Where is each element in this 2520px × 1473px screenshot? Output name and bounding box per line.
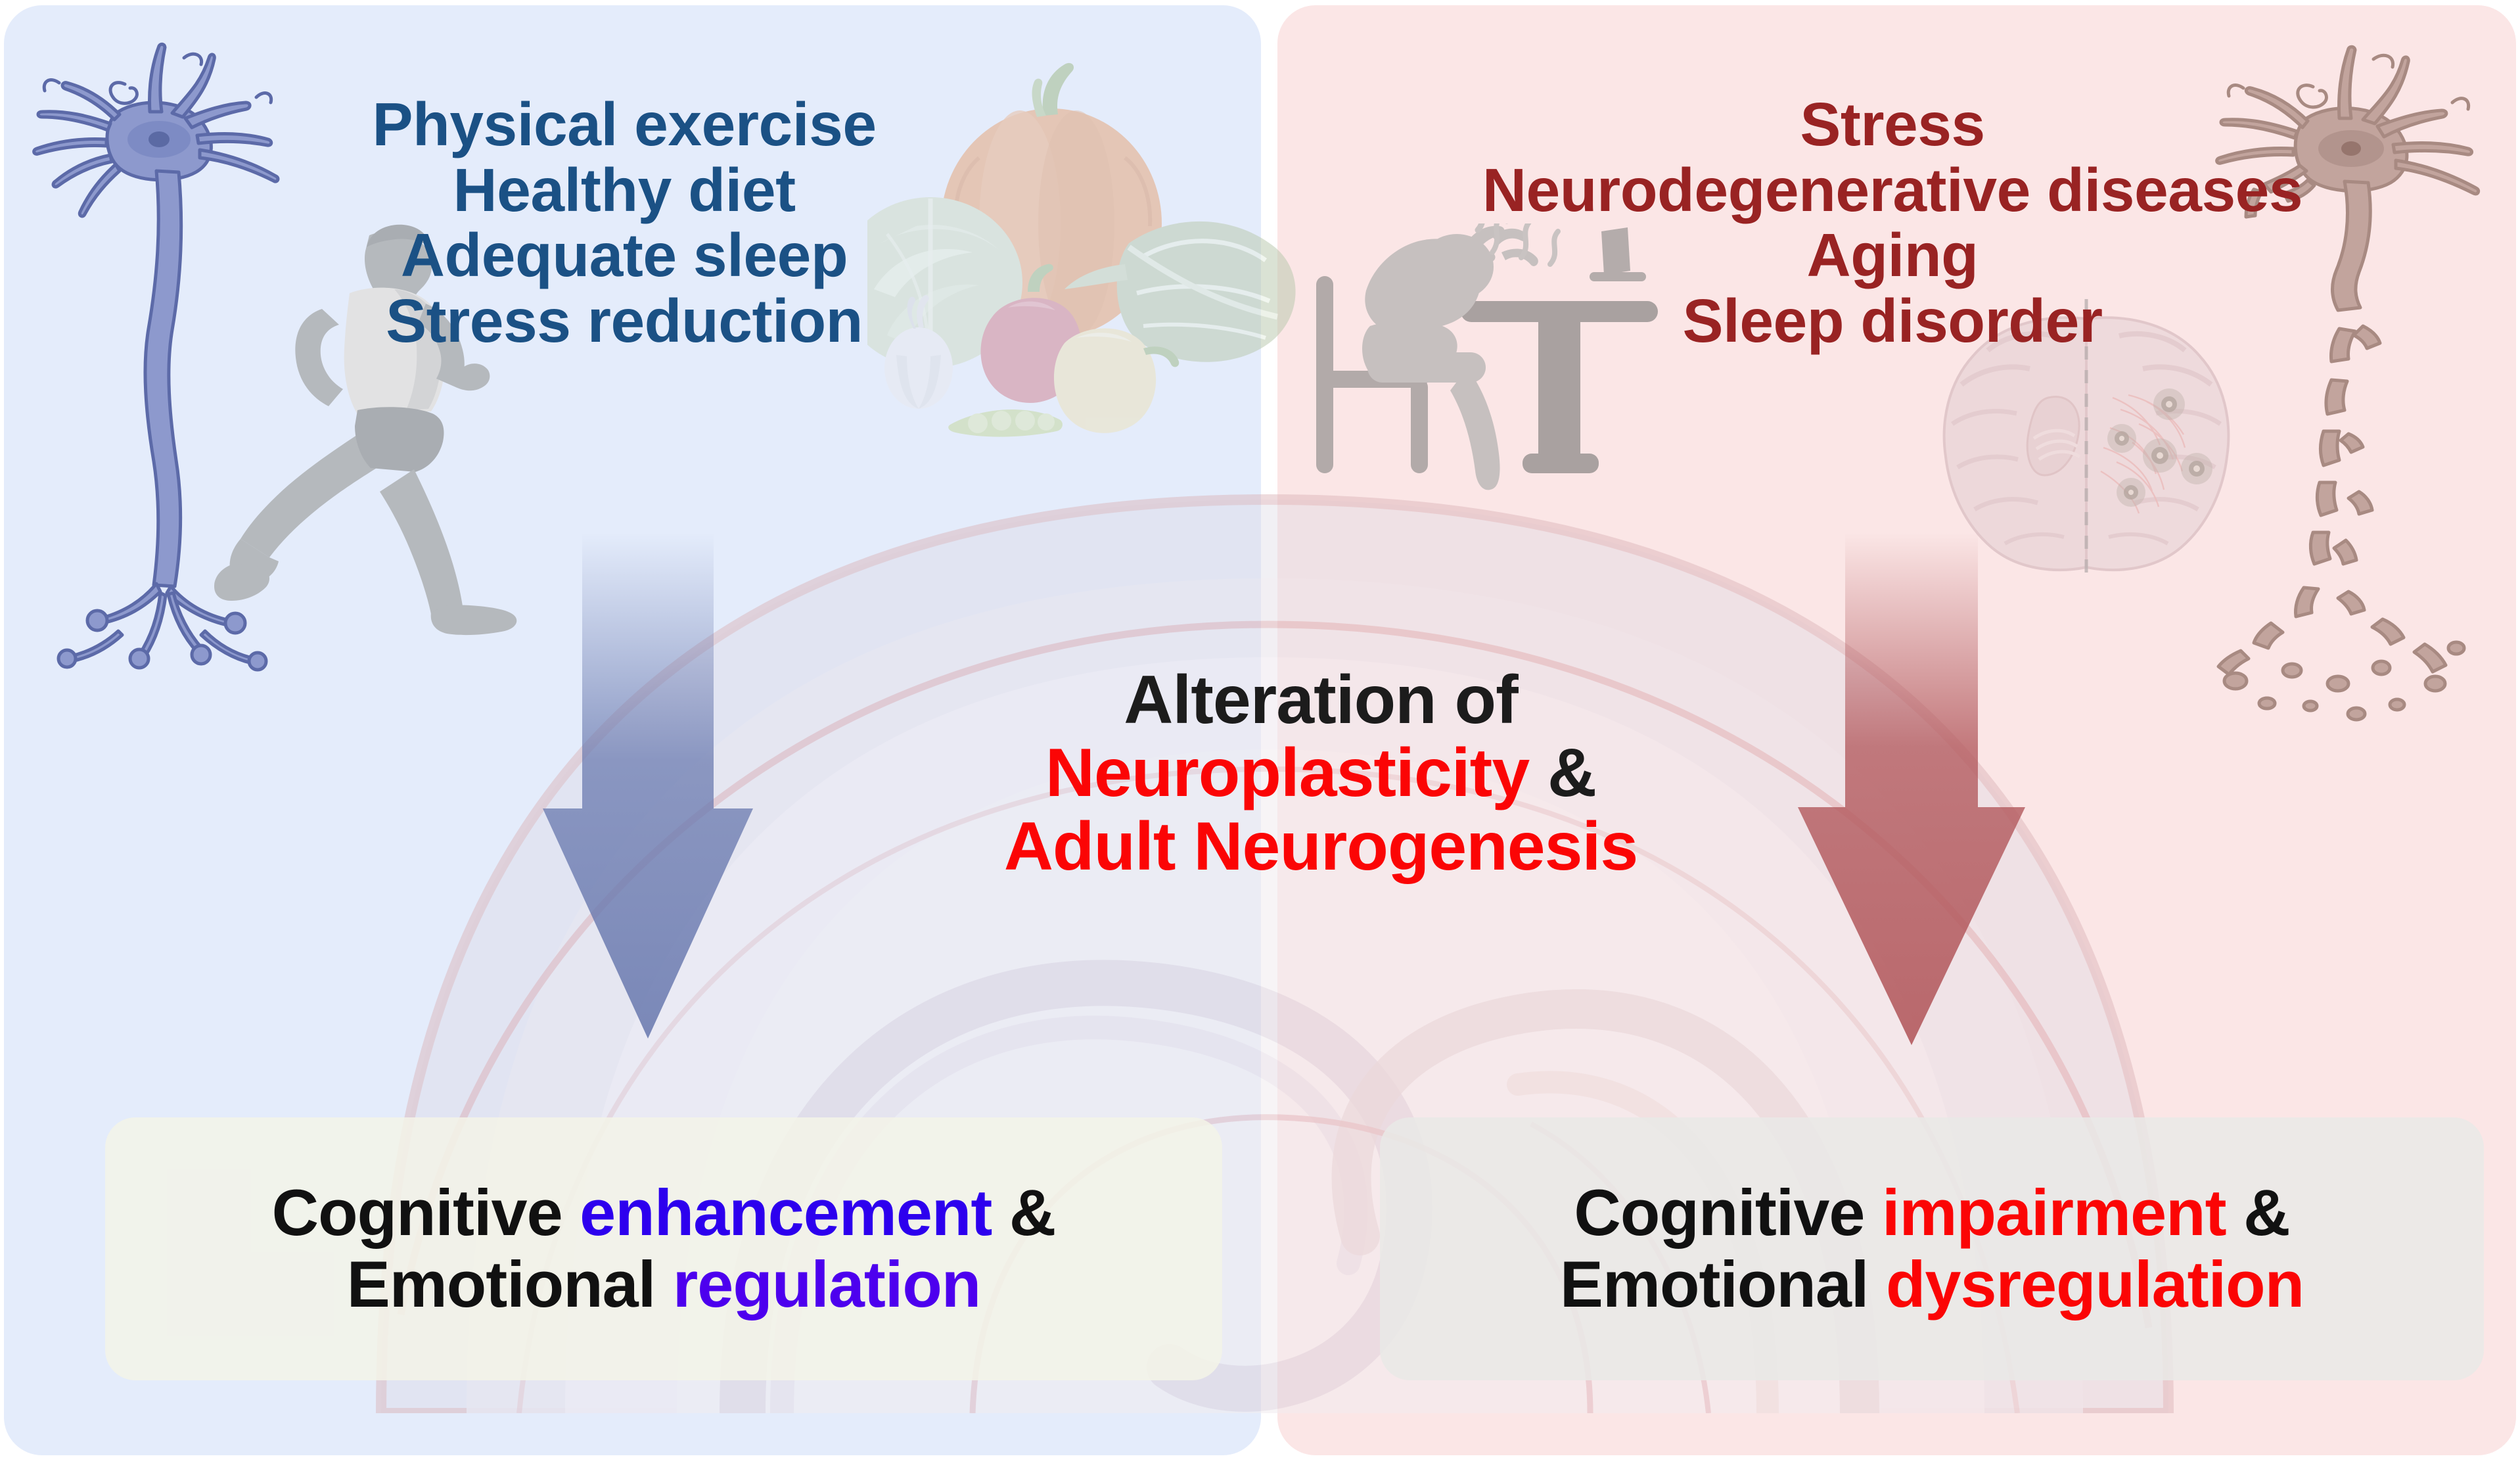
alteration-line-1: Alteration of [907, 664, 1735, 737]
positive-outcome-ampersand: & [992, 1176, 1055, 1249]
positive-outcome-cognitive-label: Cognitive [272, 1176, 580, 1249]
factor-item-stress: Stress [1301, 92, 2484, 158]
positive-outcome-enhancement: enhancement [580, 1176, 992, 1249]
negative-outcome-line-1: Cognitive impairment & [1574, 1177, 2289, 1249]
factor-item-neurodegenerative-diseases: Neurodegenerative diseases [1301, 158, 2484, 223]
factor-item-healthy-diet: Healthy diet [250, 158, 999, 223]
positive-outcome-line-2: Emotional regulation [347, 1249, 981, 1321]
factor-item-aging: Aging [1301, 223, 2484, 289]
negative-outcome-cognitive-label: Cognitive [1574, 1176, 1882, 1249]
protective-factors-list: Physical exercise Healthy diet Adequate … [250, 92, 999, 354]
negative-outcome-box: Cognitive impairment & Emotional dysregu… [1380, 1117, 2484, 1380]
alteration-line-3: Adult Neurogenesis [907, 810, 1735, 883]
factor-item-sleep-disorder: Sleep disorder [1301, 289, 2484, 354]
negative-outcome-line-2: Emotional dysregulation [1560, 1249, 2304, 1321]
figure-canvas: Physical exercise Healthy diet Adequate … [0, 0, 2520, 1473]
factor-item-stress-reduction: Stress reduction [250, 289, 999, 354]
positive-outcome-line-1: Cognitive enhancement & [272, 1177, 1056, 1249]
alteration-ampersand: & [1529, 735, 1596, 811]
factor-item-physical-exercise: Physical exercise [250, 92, 999, 158]
positive-outcome-regulation: regulation [673, 1248, 981, 1321]
negative-outcome-dysregulation: dysregulation [1886, 1248, 2304, 1321]
alteration-statement: Alteration of Neuroplasticity & Adult Ne… [907, 664, 1735, 883]
alteration-line-2: Neuroplasticity & [907, 737, 1735, 810]
negative-outcome-emotional-label: Emotional [1560, 1248, 1886, 1321]
alteration-neuroplasticity: Neuroplasticity [1045, 735, 1529, 811]
positive-outcome-box: Cognitive enhancement & Emotional regula… [105, 1117, 1222, 1380]
factor-item-adequate-sleep: Adequate sleep [250, 223, 999, 289]
positive-outcome-emotional-label: Emotional [347, 1248, 673, 1321]
negative-outcome-impairment: impairment [1882, 1176, 2226, 1249]
negative-outcome-ampersand: & [2226, 1176, 2290, 1249]
risk-factors-list: Stress Neurodegenerative diseases Aging … [1301, 92, 2484, 354]
